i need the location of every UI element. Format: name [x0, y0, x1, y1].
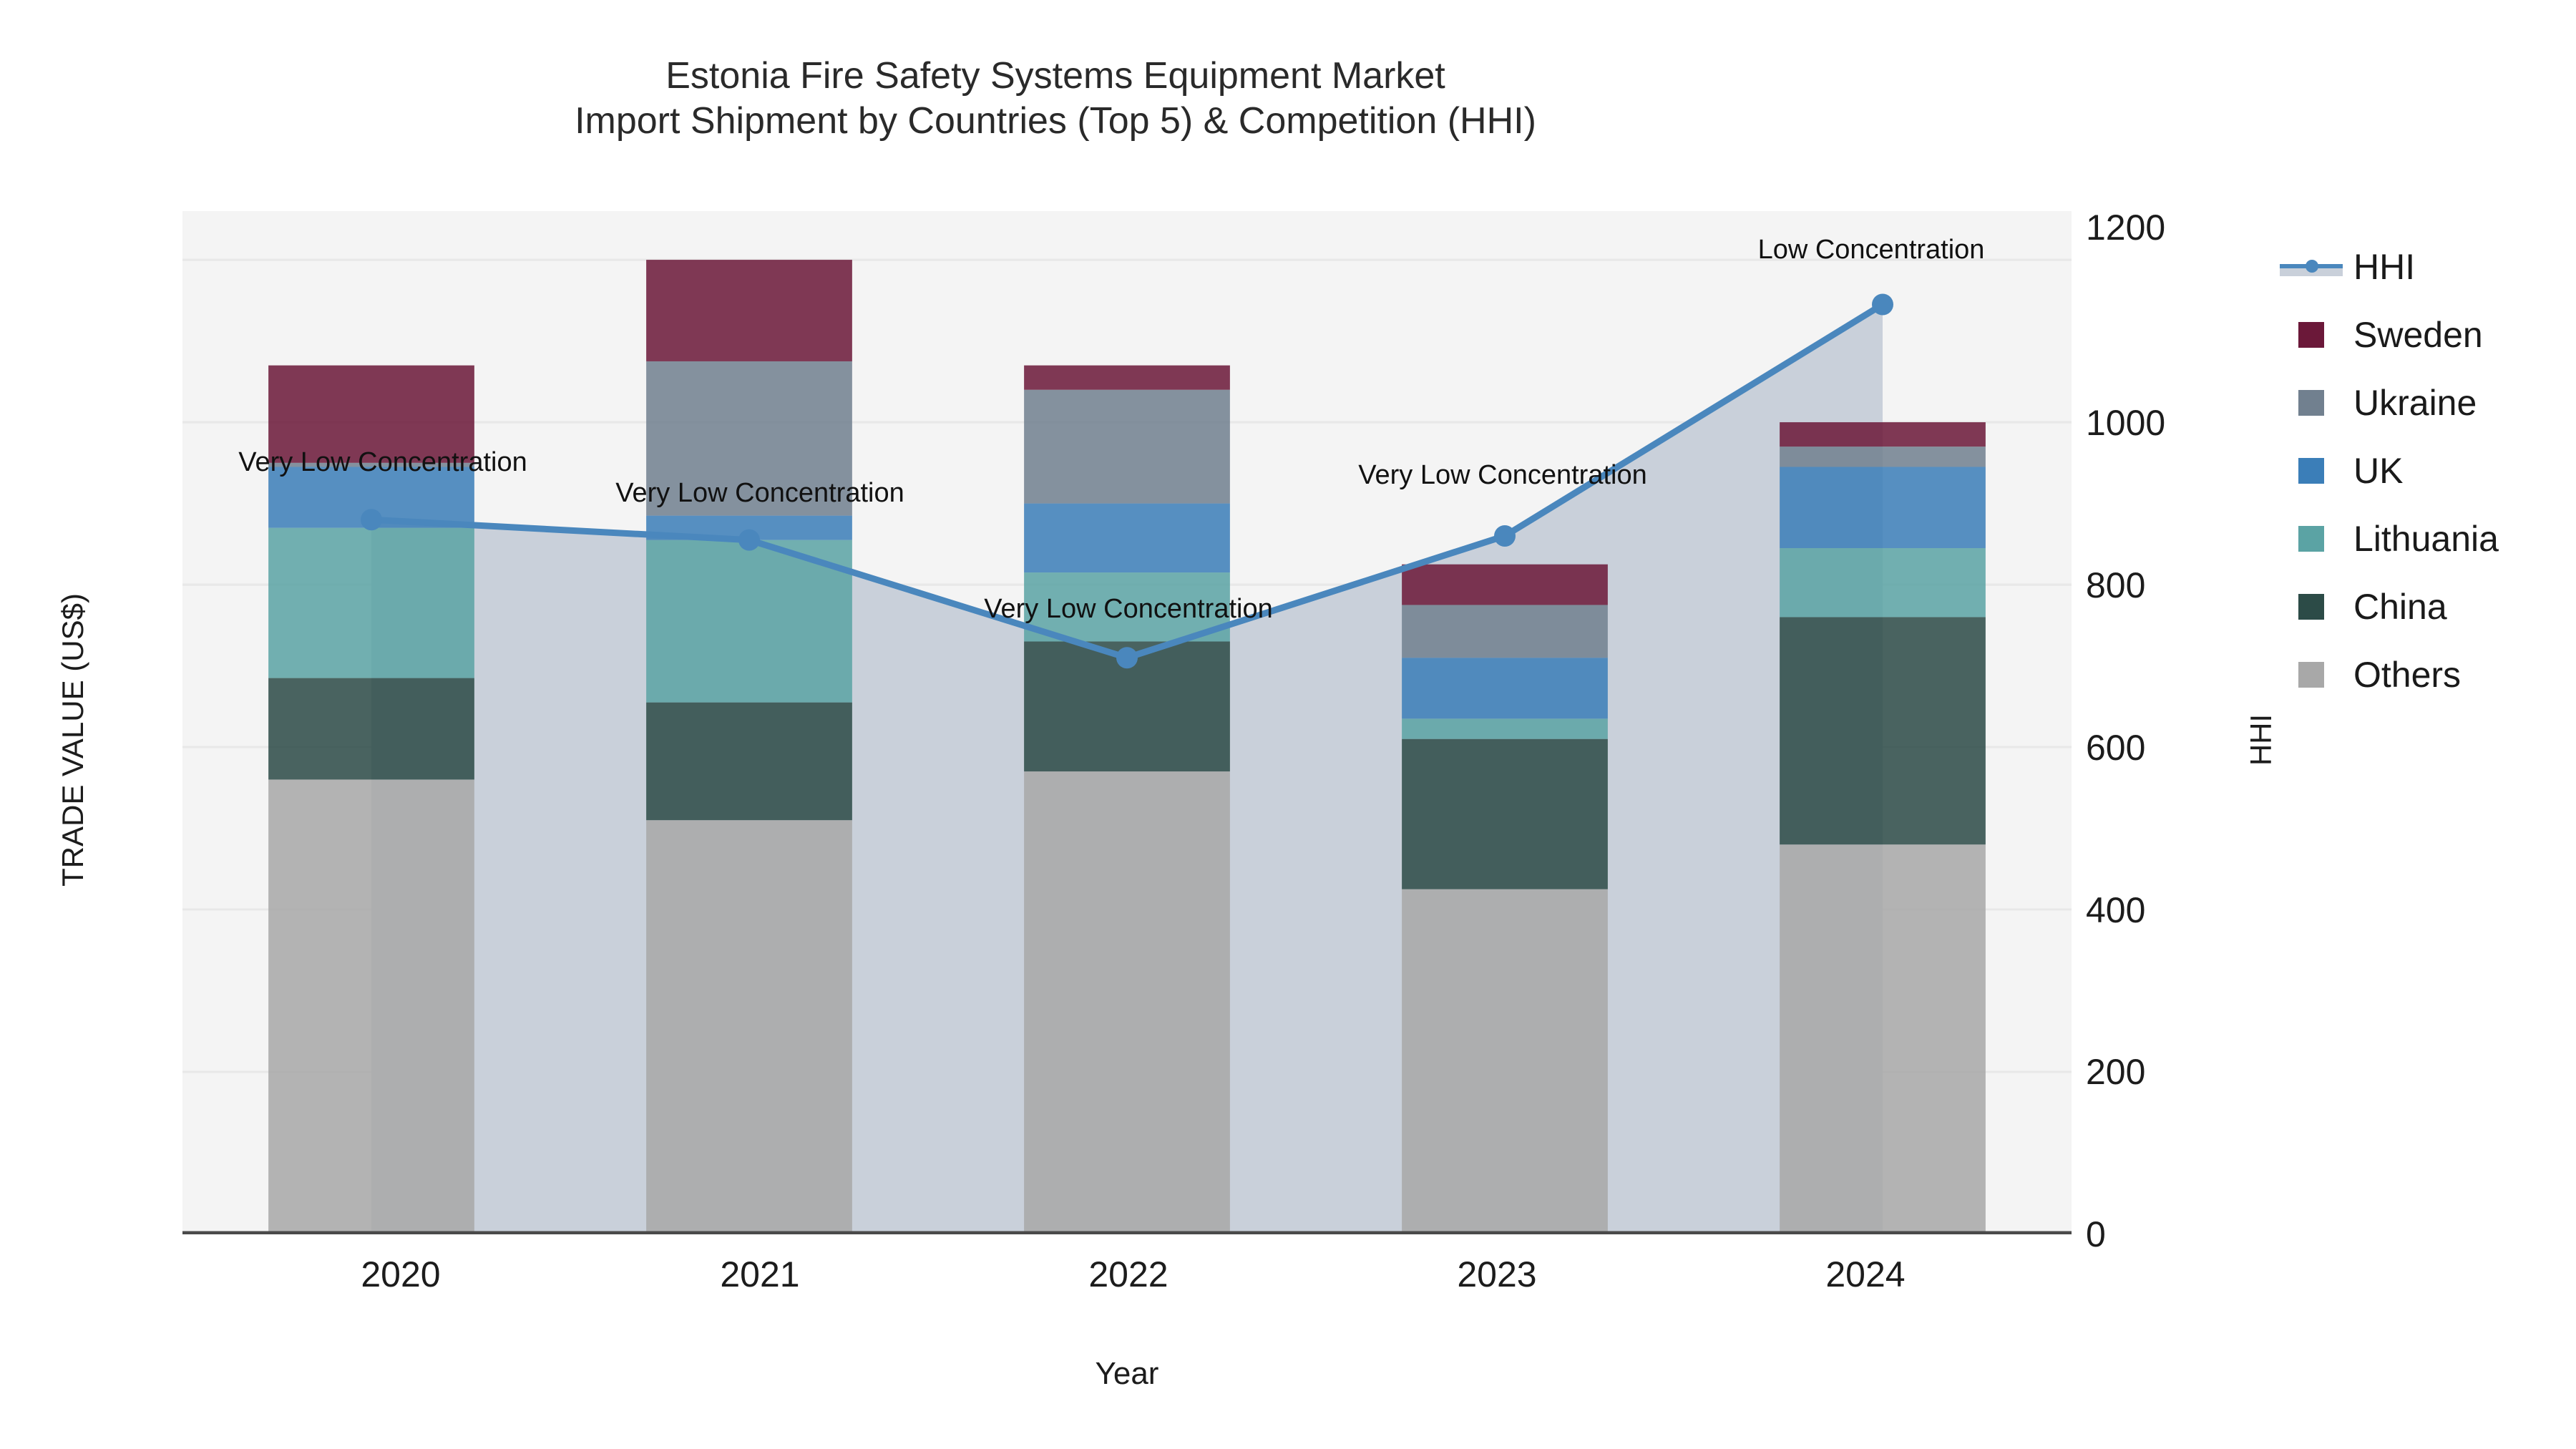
bar-segment-sweden-2024[interactable]	[1780, 422, 1986, 447]
legend-item-uk[interactable]: UK	[2279, 436, 2576, 504]
annotation-2022: Very Low Concentration	[984, 594, 1272, 625]
xtick-2023: 2023	[1347, 1254, 1647, 1295]
bar-segment-lithuania-2023[interactable]	[1402, 718, 1608, 738]
bar-segment-uk-2024[interactable]	[1780, 467, 1986, 548]
legend-item-label: China	[2353, 586, 2447, 628]
bar-segment-lithuania-2024[interactable]	[1780, 548, 1986, 617]
annotation-2020: Very Low Concentration	[238, 447, 527, 478]
legend-item-lithuania[interactable]: Lithuania	[2279, 504, 2576, 572]
x-axis-title: Year	[182, 1356, 2072, 1392]
bar-stack-2021[interactable]	[646, 260, 852, 1234]
legend-item-label: Others	[2353, 654, 2461, 696]
legend-item-china[interactable]: China	[2279, 572, 2576, 640]
bar-segment-uk-2023[interactable]	[1402, 658, 1608, 718]
bar-segment-ukraine-2024[interactable]	[1780, 447, 1986, 467]
annotation-2024: Low Concentration	[1758, 235, 1985, 265]
bar-stack-2023[interactable]	[1402, 565, 1608, 1234]
ytick-right-2: 400	[2086, 889, 2301, 931]
bar-segment-lithuania-2020[interactable]	[268, 528, 474, 678]
bar-segment-others-2023[interactable]	[1402, 889, 1608, 1234]
ytick-right-1: 200	[2086, 1051, 2301, 1093]
legend-swatch-icon	[2298, 526, 2324, 552]
xtick-2021: 2021	[610, 1254, 910, 1295]
bar-segment-ukraine-2022[interactable]	[1024, 390, 1230, 504]
bar-segment-china-2020[interactable]	[268, 678, 474, 780]
bar-stack-2020[interactable]	[268, 366, 474, 1234]
legend-swatch-icon	[2298, 390, 2324, 416]
legend-item-label: Lithuania	[2353, 518, 2499, 560]
hhi-marker-2024[interactable]	[1872, 294, 1893, 316]
legend-item-others[interactable]: Others	[2279, 640, 2576, 708]
ytick-right-0: 0	[2086, 1214, 2301, 1255]
bar-segment-sweden-2021[interactable]	[646, 260, 852, 361]
hhi-marker-2020[interactable]	[361, 509, 382, 530]
legend-item-label: Ukraine	[2353, 382, 2477, 424]
ytick-right-6: 1200	[2086, 207, 2301, 248]
bar-segment-uk-2022[interactable]	[1024, 504, 1230, 572]
legend-item-label: HHI	[2353, 246, 2415, 288]
plot-svg	[182, 211, 2072, 1234]
legend: HHISwedenUkraineUKLithuaniaChinaOthers	[2279, 233, 2576, 708]
y-axis-title-right: HHI	[2244, 597, 2278, 883]
legend-line-marker-icon	[2280, 258, 2343, 276]
plot-area	[182, 211, 2072, 1234]
bar-stack-2024[interactable]	[1780, 422, 1986, 1234]
hhi-marker-2022[interactable]	[1116, 647, 1138, 668]
chart-title-line2: Import Shipment by Countries (Top 5) & C…	[0, 99, 2111, 144]
bar-segment-others-2024[interactable]	[1780, 844, 1986, 1234]
legend-swatch-icon	[2298, 458, 2324, 484]
chart-title: Estonia Fire Safety Systems Equipment Ma…	[0, 54, 2111, 145]
bar-segment-others-2021[interactable]	[646, 820, 852, 1234]
xtick-2024: 2024	[1715, 1254, 2016, 1295]
bar-segment-others-2020[interactable]	[268, 779, 474, 1234]
hhi-marker-2023[interactable]	[1494, 525, 1516, 547]
legend-swatch-icon	[2298, 662, 2324, 688]
bar-segment-china-2023[interactable]	[1402, 739, 1608, 889]
legend-item-sweden[interactable]: Sweden	[2279, 301, 2576, 369]
hhi-marker-2021[interactable]	[738, 530, 760, 551]
chart-container: Estonia Fire Safety Systems Equipment Ma…	[0, 0, 2576, 1449]
legend-item-hhi[interactable]: HHI	[2279, 233, 2576, 301]
bar-stack-2022[interactable]	[1024, 366, 1230, 1234]
bar-segment-sweden-2022[interactable]	[1024, 366, 1230, 390]
bar-segment-sweden-2023[interactable]	[1402, 565, 1608, 605]
annotation-2023: Very Low Concentration	[1358, 460, 1646, 491]
legend-item-ukraine[interactable]: Ukraine	[2279, 369, 2576, 436]
ytick-right-5: 1000	[2086, 402, 2301, 444]
bar-segment-others-2022[interactable]	[1024, 771, 1230, 1234]
bar-segment-china-2021[interactable]	[646, 703, 852, 821]
chart-title-line1: Estonia Fire Safety Systems Equipment Ma…	[665, 55, 1445, 97]
annotation-2021: Very Low Concentration	[615, 478, 904, 509]
xtick-2022: 2022	[978, 1254, 1279, 1295]
bar-segment-ukraine-2023[interactable]	[1402, 605, 1608, 658]
legend-swatch-icon	[2298, 594, 2324, 620]
legend-swatch-icon	[2298, 322, 2324, 348]
xtick-2020: 2020	[250, 1254, 551, 1295]
bar-segment-china-2024[interactable]	[1780, 617, 1986, 844]
legend-item-label: UK	[2353, 450, 2403, 492]
legend-item-label: Sweden	[2353, 314, 2483, 356]
y-axis-title-left: TRADE VALUE (US$)	[56, 489, 90, 990]
